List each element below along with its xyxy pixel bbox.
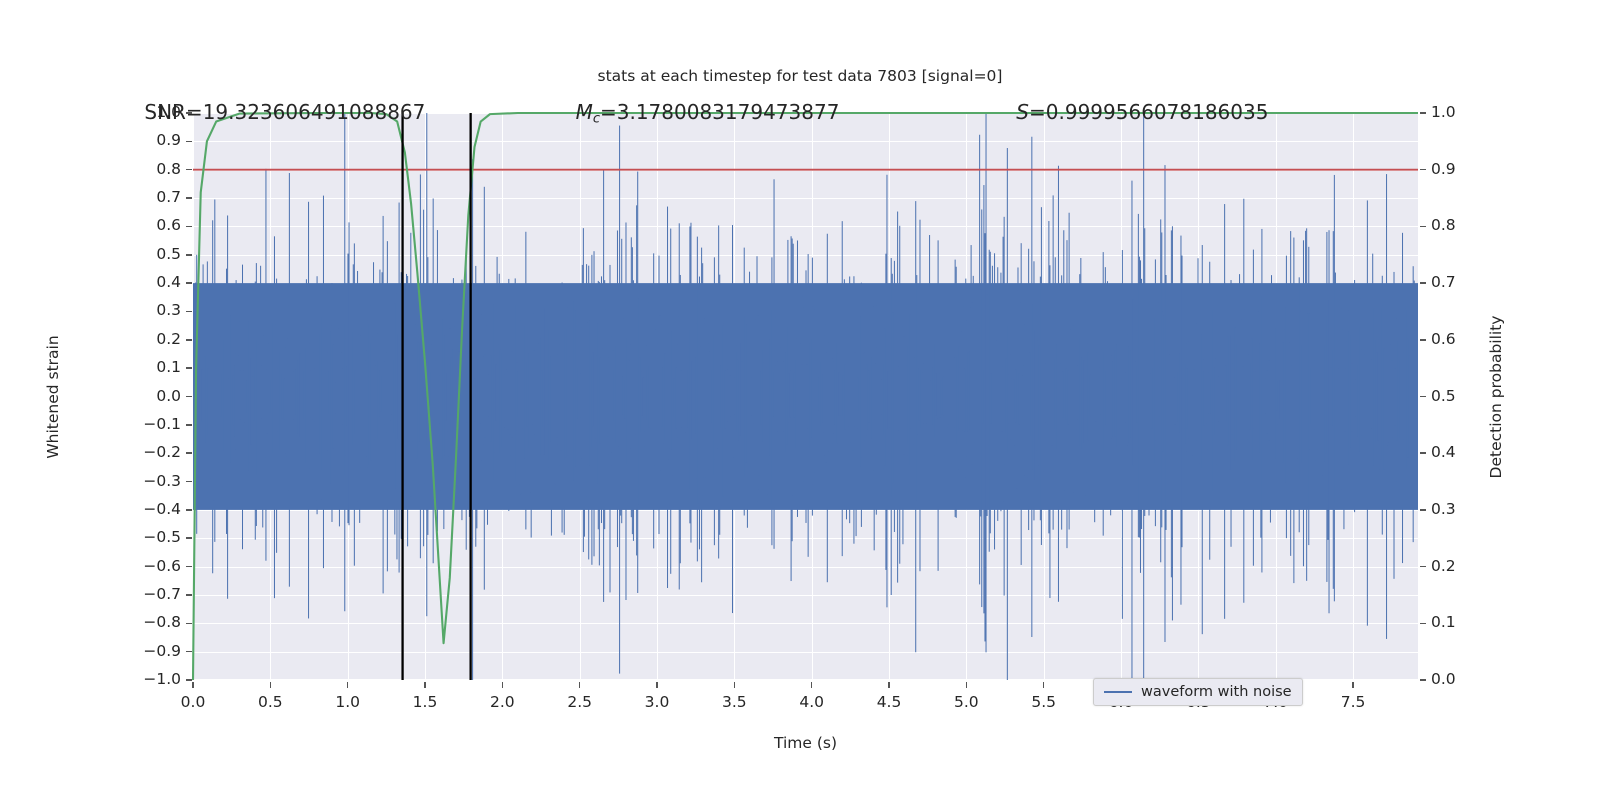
y-tick-mark-left — [186, 311, 192, 313]
y-tick-mark-left — [186, 254, 192, 256]
y-tick-mark-right — [1420, 339, 1426, 341]
y-tick-mark-right — [1420, 226, 1426, 228]
y-tick-label-left: 0.5 — [0, 245, 181, 263]
y-tick-label-right: 0.3 — [1431, 500, 1456, 518]
y-tick-mark-right — [1420, 623, 1426, 625]
detection-probability-curve — [193, 113, 1418, 680]
x-tick-mark — [656, 682, 658, 688]
y-tick-label-left: 0.8 — [0, 160, 181, 178]
y-tick-mark-left — [186, 197, 192, 199]
annotation-score-equals: = — [1029, 100, 1046, 124]
y-tick-label-left: 0.1 — [0, 358, 181, 376]
y-tick-mark-right — [1420, 282, 1426, 284]
x-tick-mark — [1043, 682, 1045, 688]
chart-title: stats at each timestep for test data 780… — [0, 67, 1600, 85]
y-tick-label-right: 0.8 — [1431, 216, 1456, 234]
y-tick-mark-right — [1420, 566, 1426, 568]
x-tick-label: 1.5 — [395, 693, 455, 711]
y-tick-label-left: 0.2 — [0, 330, 181, 348]
y-axis-label-left: Whitened strain — [44, 335, 62, 458]
y-tick-mark-left — [186, 623, 192, 625]
y-tick-label-left: −0.5 — [0, 528, 181, 546]
y-axis-label-right: Detection probability — [1487, 315, 1505, 478]
x-tick-label: 2.0 — [472, 693, 532, 711]
x-tick-mark — [192, 682, 194, 688]
y-tick-label-right: 0.4 — [1431, 443, 1456, 461]
overlay-series — [193, 113, 1418, 680]
y-tick-mark-left — [186, 651, 192, 653]
x-tick-label: 5.0 — [936, 693, 996, 711]
x-tick-mark — [270, 682, 272, 688]
x-tick-mark — [811, 682, 813, 688]
x-tick-mark — [966, 682, 968, 688]
y-tick-label-right: 0.9 — [1431, 160, 1456, 178]
figure-canvas: stats at each timestep for test data 780… — [0, 0, 1600, 800]
legend-swatch-waveform — [1104, 691, 1132, 693]
annotation-snr-value: 19.323606491088867 — [203, 100, 426, 124]
y-tick-mark-right — [1420, 396, 1426, 398]
annotation-chirp-mass: Mc=3.1780083179473877 — [576, 100, 840, 126]
x-tick-mark — [424, 682, 426, 688]
annotation-score: S=0.9999566078186035 — [1016, 100, 1268, 124]
y-tick-label-left: 0.7 — [0, 188, 181, 206]
y-tick-mark-left — [186, 594, 192, 596]
y-tick-label-left: −0.4 — [0, 500, 181, 518]
y-tick-mark-left — [186, 396, 192, 398]
y-tick-label-right: 0.5 — [1431, 387, 1456, 405]
y-tick-mark-left — [186, 452, 192, 454]
y-tick-mark-left — [186, 566, 192, 568]
y-tick-mark-left — [186, 169, 192, 171]
y-tick-label-left: 0.6 — [0, 216, 181, 234]
x-tick-label: 4.5 — [859, 693, 919, 711]
y-tick-mark-left — [186, 367, 192, 369]
x-tick-label: 5.5 — [1014, 693, 1074, 711]
y-tick-label-left: −0.9 — [0, 642, 181, 660]
x-tick-mark — [347, 682, 349, 688]
y-tick-label-left: 0.3 — [0, 301, 181, 319]
y-tick-label-right: 0.0 — [1431, 670, 1456, 688]
y-tick-mark-left — [186, 226, 192, 228]
y-tick-label-right: 1.0 — [1431, 103, 1456, 121]
legend[interactable]: waveform with noise — [1093, 678, 1303, 706]
y-tick-mark-right — [1420, 169, 1426, 171]
annotation-chirp-mass-equals: = — [600, 100, 617, 124]
y-tick-label-left: −0.8 — [0, 613, 181, 631]
y-tick-label-left: −0.3 — [0, 472, 181, 490]
y-tick-mark-right — [1420, 509, 1426, 511]
x-tick-mark — [502, 682, 504, 688]
x-axis-label: Time (s) — [774, 734, 837, 752]
y-tick-label-right: 0.7 — [1431, 273, 1456, 291]
x-tick-label: 4.0 — [782, 693, 842, 711]
y-tick-mark-right — [1420, 679, 1426, 681]
x-tick-label: 3.0 — [627, 693, 687, 711]
y-tick-mark-left — [186, 424, 192, 426]
y-tick-label-left: 0.0 — [0, 387, 181, 405]
x-tick-label: 1.0 — [318, 693, 378, 711]
y-tick-mark-left — [186, 339, 192, 341]
y-tick-mark-left — [186, 481, 192, 483]
y-tick-label-left: 0.9 — [0, 131, 181, 149]
annotation-score-symbol: S — [1016, 100, 1029, 124]
x-tick-label: 0.5 — [240, 693, 300, 711]
x-tick-mark — [579, 682, 581, 688]
y-tick-label-left: 1.0 — [0, 103, 181, 121]
y-tick-label-left: 0.4 — [0, 273, 181, 291]
y-tick-label-left: −0.2 — [0, 443, 181, 461]
legend-label-waveform: waveform with noise — [1141, 684, 1292, 700]
x-tick-mark — [734, 682, 736, 688]
y-tick-mark-right — [1420, 452, 1426, 454]
x-tick-label: 7.5 — [1323, 693, 1383, 711]
y-tick-label-right: 0.2 — [1431, 557, 1456, 575]
y-tick-mark-left — [186, 141, 192, 143]
y-tick-mark-left — [186, 679, 192, 681]
y-tick-label-left: −0.1 — [0, 415, 181, 433]
y-tick-mark-right — [1420, 112, 1426, 114]
y-tick-mark-left — [186, 282, 192, 284]
y-tick-mark-left — [186, 112, 192, 114]
annotation-chirp-mass-value: 3.1780083179473877 — [617, 100, 840, 124]
x-tick-label: 2.5 — [550, 693, 610, 711]
y-tick-label-right: 0.6 — [1431, 330, 1456, 348]
y-tick-mark-left — [186, 537, 192, 539]
y-tick-label-left: −0.7 — [0, 585, 181, 603]
y-tick-label-right: 0.1 — [1431, 613, 1456, 631]
x-tick-mark — [888, 682, 890, 688]
y-tick-mark-left — [186, 509, 192, 511]
y-tick-label-left: −1.0 — [0, 670, 181, 688]
x-tick-mark — [1352, 682, 1354, 688]
x-tick-label: 0.0 — [163, 693, 223, 711]
annotation-chirp-mass-symbol: M — [576, 100, 593, 124]
y-tick-label-left: −0.6 — [0, 557, 181, 575]
plot-area — [193, 113, 1418, 680]
annotation-score-value: 0.9999566078186035 — [1046, 100, 1269, 124]
x-tick-label: 3.5 — [704, 693, 764, 711]
